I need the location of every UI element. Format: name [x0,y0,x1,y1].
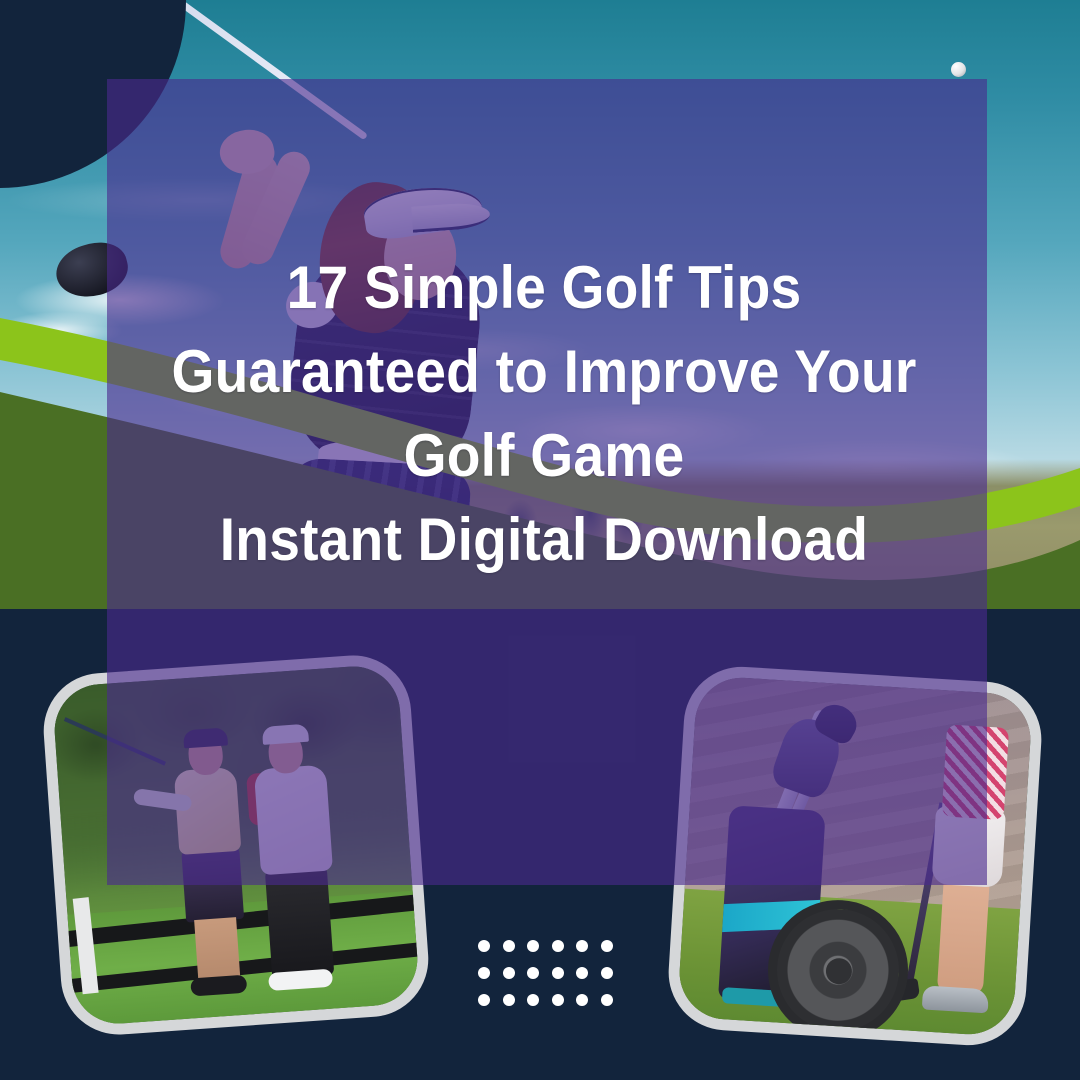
headline-line-4: Instant Digital Download [152,498,936,582]
dot [552,940,564,952]
dot [601,967,613,979]
dot [527,967,539,979]
golf-tips-promo-poster: 17 Simple Golf Tips Guaranteed to Improv… [0,0,1080,1080]
dot [478,994,490,1006]
page-title: 17 Simple Golf Tips Guaranteed to Improv… [152,246,936,582]
golfer-one-legs [194,917,240,982]
headline-line-1: 17 Simple Golf Tips [152,246,936,330]
dot [478,967,490,979]
dot [527,940,539,952]
dot [478,940,490,952]
dot [503,940,515,952]
headline-line-2: Guaranteed to Improve Your [152,330,936,414]
dot [552,967,564,979]
dot-grid-decoration [472,932,619,1013]
dot [601,994,613,1006]
golfer-shoe [922,985,989,1013]
dot [503,994,515,1006]
dot [576,994,588,1006]
dot [601,940,613,952]
golf-ball-icon [951,62,966,77]
dot [552,994,564,1006]
dot [576,967,588,979]
dot [576,940,588,952]
dot [503,967,515,979]
dot [527,994,539,1006]
headline-line-3: Golf Game [152,414,936,498]
golfer-leg [937,870,990,995]
